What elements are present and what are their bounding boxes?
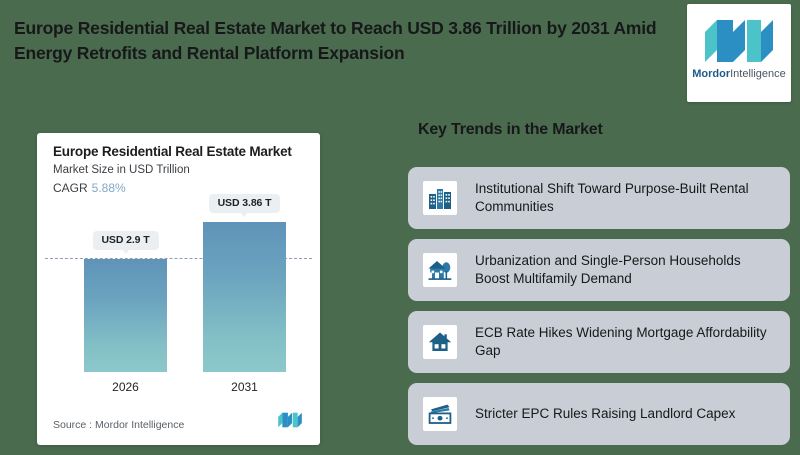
mordor-intelligence-mark-icon	[276, 412, 304, 433]
mordor-intelligence-logo-icon	[703, 18, 775, 69]
banknotes-icon	[423, 397, 457, 431]
trend-card-text: Urbanization and Single-Person Household…	[475, 252, 778, 288]
brand-word-primary: Mordor	[692, 68, 730, 80]
bar-value-label: USD 3.86 T	[209, 194, 281, 213]
house-with-tree-icon	[423, 253, 457, 287]
trend-card-epc-rules[interactable]: Stricter EPC Rules Raising Landlord Cape…	[408, 383, 790, 445]
x-axis-tick-label: 2026	[84, 380, 167, 394]
bar-value-label: USD 2.9 T	[92, 231, 158, 250]
house-icon	[423, 325, 457, 359]
cagr-label: CAGR	[53, 181, 88, 195]
trend-card-text: ECB Rate Hikes Widening Mortgage Afforda…	[475, 324, 778, 360]
chart-subtitle: Market Size in USD Trillion	[53, 164, 190, 176]
chart-source-text: Source : Mordor Intelligence	[53, 419, 184, 431]
x-axis-tick-label: 2031	[203, 380, 286, 394]
trend-card-institutional-shift[interactable]: Institutional Shift Toward Purpose-Built…	[408, 167, 790, 229]
chart-card: Europe Residential Real Estate Market Ma…	[37, 133, 320, 445]
page-title: Europe Residential Real Estate Market to…	[14, 16, 674, 67]
bar-column-2031: USD 3.86 T 2031	[203, 205, 286, 372]
trend-card-ecb-rate-hikes[interactable]: ECB Rate Hikes Widening Mortgage Afforda…	[408, 311, 790, 373]
office-buildings-icon	[423, 181, 457, 215]
brand-word-secondary: Intelligence	[730, 68, 786, 80]
brand-wordmark: MordorIntelligence	[687, 68, 791, 80]
trends-heading: Key Trends in the Market	[418, 121, 603, 139]
cagr-value: 5.88%	[92, 181, 126, 195]
trend-card-urbanization[interactable]: Urbanization and Single-Person Household…	[408, 239, 790, 301]
trend-card-text: Institutional Shift Toward Purpose-Built…	[475, 180, 778, 216]
bar-chart-plot-area: USD 2.9 T 2026 USD 3.86 T 2031	[37, 205, 320, 400]
trend-list: Institutional Shift Toward Purpose-Built…	[408, 167, 790, 455]
trend-card-text: Stricter EPC Rules Raising Landlord Cape…	[475, 405, 778, 423]
bar-column-2026: USD 2.9 T 2026	[84, 205, 167, 372]
chart-title: Europe Residential Real Estate Market	[53, 144, 292, 159]
brand-logo: MordorIntelligence	[687, 4, 791, 102]
chart-cagr: CAGR5.88%	[53, 181, 126, 195]
bar	[84, 259, 167, 372]
bar	[203, 222, 286, 372]
header: Europe Residential Real Estate Market to…	[0, 0, 800, 108]
